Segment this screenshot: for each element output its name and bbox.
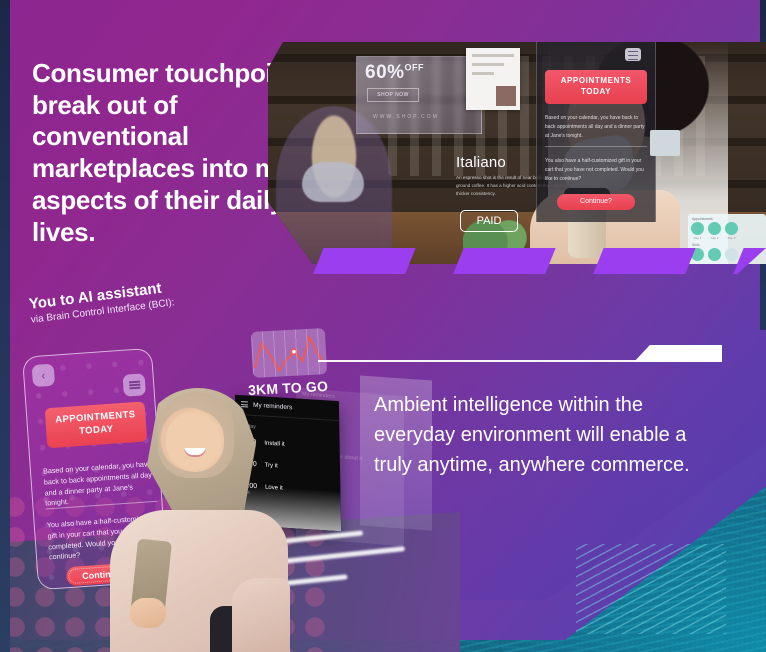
discount-suffix: OFF bbox=[405, 63, 425, 73]
distance-chart bbox=[251, 328, 327, 378]
appointments-overlay-panel: APPOINTMENTS TODAY Based on your calenda… bbox=[536, 42, 656, 222]
slot-badge[interactable] bbox=[691, 222, 704, 235]
badge-caption: Day 2 bbox=[708, 236, 721, 240]
discount-value: 60%OFF bbox=[357, 57, 481, 84]
chart-gridlines bbox=[251, 328, 327, 378]
left-edge-strip bbox=[0, 0, 10, 652]
badge-group-label: Appointments bbox=[692, 217, 763, 221]
shop-url-text: WWW.SHOP.COM bbox=[357, 102, 481, 120]
slide-canvas: Consumer touchpoints break out of conven… bbox=[0, 0, 766, 652]
badge-caption: Day 3 bbox=[725, 236, 738, 240]
cafe-photo-card: 60%OFF SHOP NOW WWW.SHOP.COM Italiano RM… bbox=[268, 42, 766, 264]
appointments-text-1: Based on your calendar, you have back to… bbox=[545, 114, 647, 140]
divider bbox=[545, 146, 647, 147]
badge-caption: Day 1 bbox=[691, 236, 704, 240]
figure-face bbox=[166, 410, 224, 472]
shop-now-button[interactable]: SHOP NOW bbox=[367, 88, 419, 102]
receipt-line bbox=[472, 54, 514, 57]
back-icon[interactable]: ‹ bbox=[32, 364, 55, 387]
appointments-continue-button[interactable]: Continue? bbox=[557, 194, 635, 210]
gift-thumbnail bbox=[650, 130, 680, 156]
receipt-line bbox=[472, 72, 494, 75]
appointments-tag: APPOINTMENTS TODAY bbox=[545, 70, 647, 104]
discount-overlay-card[interactable]: 60%OFF SHOP NOW WWW.SHOP.COM bbox=[356, 56, 482, 134]
receipt-card bbox=[466, 48, 520, 110]
body-paragraph: Ambient intelligence within the everyday… bbox=[374, 390, 704, 480]
shopper-figure bbox=[104, 392, 290, 652]
receipt-thumbnail bbox=[496, 86, 516, 106]
paid-badge: PAID bbox=[460, 210, 518, 232]
appointments-tag-line1: APPOINTMENTS bbox=[561, 76, 632, 87]
menu-icon[interactable] bbox=[625, 48, 641, 61]
item-name: Italiano bbox=[456, 154, 506, 171]
receipt-line bbox=[472, 63, 504, 66]
diagonal-stripe-band bbox=[288, 248, 766, 274]
appointments-text-2: You also have a half-customized gift in … bbox=[545, 157, 647, 183]
badge-row: Day 1 Day 2 Day 3 bbox=[691, 222, 763, 240]
figure-hand bbox=[130, 598, 166, 628]
slot-badge[interactable] bbox=[725, 222, 738, 235]
cyan-line-texture bbox=[576, 544, 726, 634]
discount-number: 60% bbox=[365, 62, 405, 83]
badge-group-label: Slots bbox=[692, 243, 763, 247]
figure-sleeve bbox=[232, 578, 290, 652]
slot-badge[interactable] bbox=[708, 222, 721, 235]
appointments-tag-line2: TODAY bbox=[581, 87, 611, 98]
